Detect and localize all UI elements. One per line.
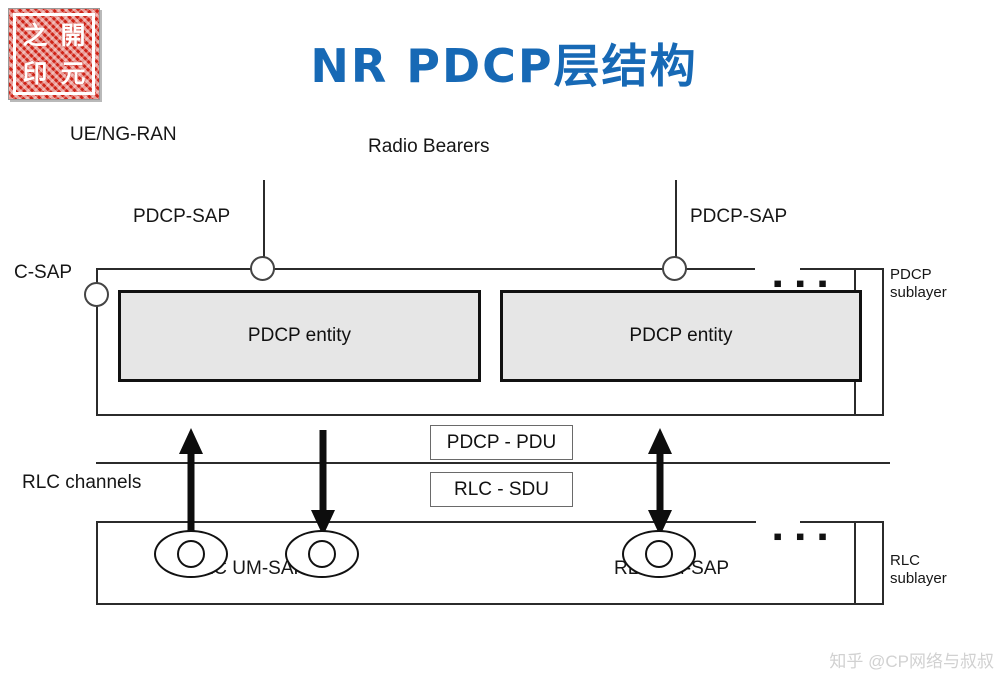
pdcp-top-line-seg-2 xyxy=(271,268,668,270)
radio-bearer-line-right xyxy=(675,180,677,260)
label-pdcp-sap-left: PDCP-SAP xyxy=(133,206,230,228)
rlc-channel-line xyxy=(96,462,890,464)
pdcp-sap-circle-right[interactable] xyxy=(662,256,687,281)
pdcp-bottom-line xyxy=(96,414,884,416)
pdcp-pdu-box[interactable]: PDCP - PDU xyxy=(430,425,573,460)
pdcp-entity-box-1[interactable]: PDCP entity xyxy=(118,290,481,382)
pdcp-top-right-stub xyxy=(854,268,884,270)
pdcp-pdu-label: PDCP - PDU xyxy=(447,432,556,454)
label-rlc-sublayer-line1: RLC xyxy=(890,552,920,569)
pdcp-entity-box-2[interactable]: PDCP entity xyxy=(500,290,862,382)
pdcp-entity-label-1: PDCP entity xyxy=(248,325,351,347)
watermark: 知乎 @CP网络与叔叔 xyxy=(829,647,994,672)
label-rlc-channels: RLC channels xyxy=(22,472,141,494)
pdcp-outer-right-edge xyxy=(882,268,884,416)
pdcp-sap-circle-left[interactable] xyxy=(250,256,275,281)
rlc-sdu-box[interactable]: RLC - SDU xyxy=(430,472,573,507)
rlc-um-sap-oval-2[interactable] xyxy=(285,530,359,578)
page-title: NR PDCP层结构 xyxy=(0,30,1008,96)
rlc-outer-right-edge xyxy=(882,521,884,605)
label-c-sap: C-SAP xyxy=(14,262,72,284)
rlc-am-sap-oval[interactable] xyxy=(622,530,696,578)
c-sap-circle[interactable] xyxy=(84,282,109,307)
c-sap-stub-line xyxy=(96,306,98,336)
rlc-um-sap-oval-1[interactable] xyxy=(154,530,228,578)
rlc-left-edge-line xyxy=(96,521,98,605)
pdcp-entity-label-2: PDCP entity xyxy=(629,325,732,347)
slide-canvas: 之 開 印 元 NR PDCP层结构 UE/NG-RAN Radio Beare… xyxy=(0,0,1008,684)
pdcp-top-line-seg-3 xyxy=(683,268,755,270)
rlc-right-edge-line xyxy=(854,521,856,605)
rlc-bottom-line xyxy=(96,603,884,605)
rlc-um-uplink-arrow xyxy=(178,428,204,538)
label-pdcp-sublayer-line1: PDCP xyxy=(890,266,932,283)
rlc-ellipsis: ▪ ▪ ▪ xyxy=(773,523,830,549)
rlc-am-bidirectional-arrow xyxy=(647,428,673,538)
label-pdcp-sublayer-line2: sublayer xyxy=(890,284,947,301)
radio-bearer-line-left xyxy=(263,180,265,260)
rlc-sdu-label: RLC - SDU xyxy=(454,479,549,501)
rlc-um-downlink-arrow xyxy=(310,428,336,538)
label-rlc-sublayer-line2: sublayer xyxy=(890,570,947,587)
label-pdcp-sap-right: PDCP-SAP xyxy=(690,206,787,228)
label-ue-ng-ran: UE/NG-RAN xyxy=(70,124,177,146)
label-radio-bearers: Radio Bearers xyxy=(368,136,489,158)
rlc-top-right-stub xyxy=(854,521,884,523)
pdcp-top-line-seg-1 xyxy=(96,268,256,270)
